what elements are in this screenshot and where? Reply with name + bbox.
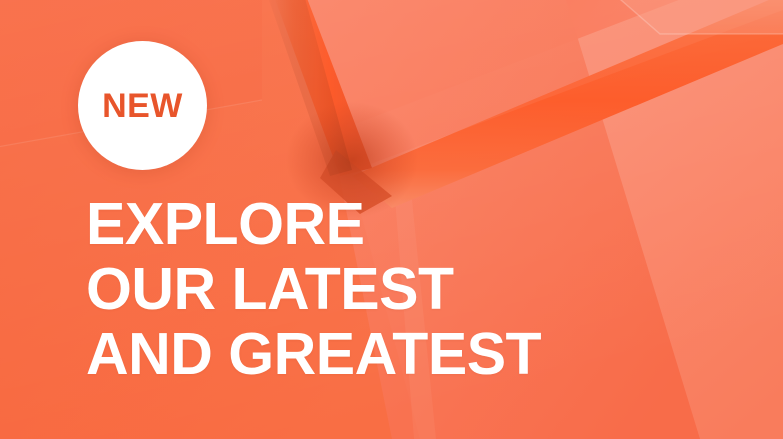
panel-top-right-edge	[598, 0, 783, 34]
new-badge-label: NEW	[102, 89, 183, 123]
new-badge-circle: NEW	[78, 41, 207, 170]
fold-band-highlight	[352, 0, 783, 176]
headline-line-3: AND GREATEST	[86, 322, 726, 387]
headline-line-2: OUR LATEST	[86, 257, 726, 322]
headline: EXPLORE OUR LATEST AND GREATEST	[86, 192, 726, 387]
panel-top-right	[598, 0, 783, 34]
promo-banner: NEW EXPLORE OUR LATEST AND GREATEST	[0, 0, 783, 439]
headline-line-1: EXPLORE	[86, 192, 726, 257]
fold-band-vertical	[268, 0, 372, 176]
fold-band-diagonal	[352, 0, 783, 208]
sheet-inner-shadow	[262, 0, 352, 176]
